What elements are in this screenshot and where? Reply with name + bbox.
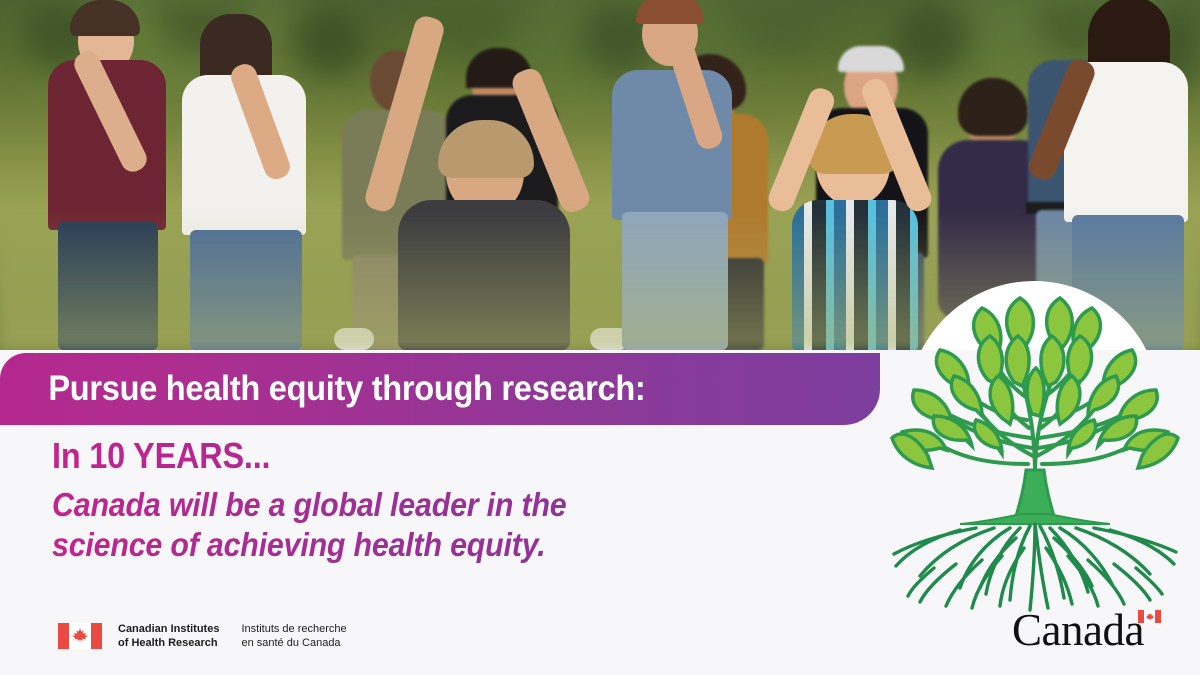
subline-line-2: science of achieving health equity. xyxy=(52,525,696,565)
subline-line-1: Canada will be a global leader in the xyxy=(52,485,696,525)
tree-with-roots-icon xyxy=(890,288,1180,618)
subline-text: Canada will be a global leader in the sc… xyxy=(52,485,696,566)
banner-text: Pursue health equity through research: xyxy=(0,369,645,409)
cihr-fr-line-2: en santé du Canada xyxy=(241,636,346,650)
canada-flag-icon xyxy=(58,623,102,649)
cihr-wordmark-text: Canadian Institutes of Health Research I… xyxy=(118,622,347,650)
headline-text: In 10 YEARS... xyxy=(52,437,682,475)
message-block: In 10 YEARS... Canada will be a global l… xyxy=(52,437,752,565)
canada-flag-icon xyxy=(1138,610,1161,623)
cihr-en-line-2: of Health Research xyxy=(118,636,219,650)
canada-wordmark: Canada xyxy=(1012,608,1162,656)
cihr-english: Canadian Institutes of Health Research xyxy=(118,622,219,650)
cihr-french: Instituts de recherche en santé du Canad… xyxy=(241,622,346,650)
cihr-fr-line-1: Instituts de recherche xyxy=(241,622,346,636)
poster-canvas: Pursue health equity through research: I… xyxy=(0,0,1200,675)
banner-headline-bar: Pursue health equity through research: xyxy=(0,353,880,425)
cihr-en-line-1: Canadian Institutes xyxy=(118,622,219,636)
cihr-logo: Canadian Institutes of Health Research I… xyxy=(58,622,347,650)
